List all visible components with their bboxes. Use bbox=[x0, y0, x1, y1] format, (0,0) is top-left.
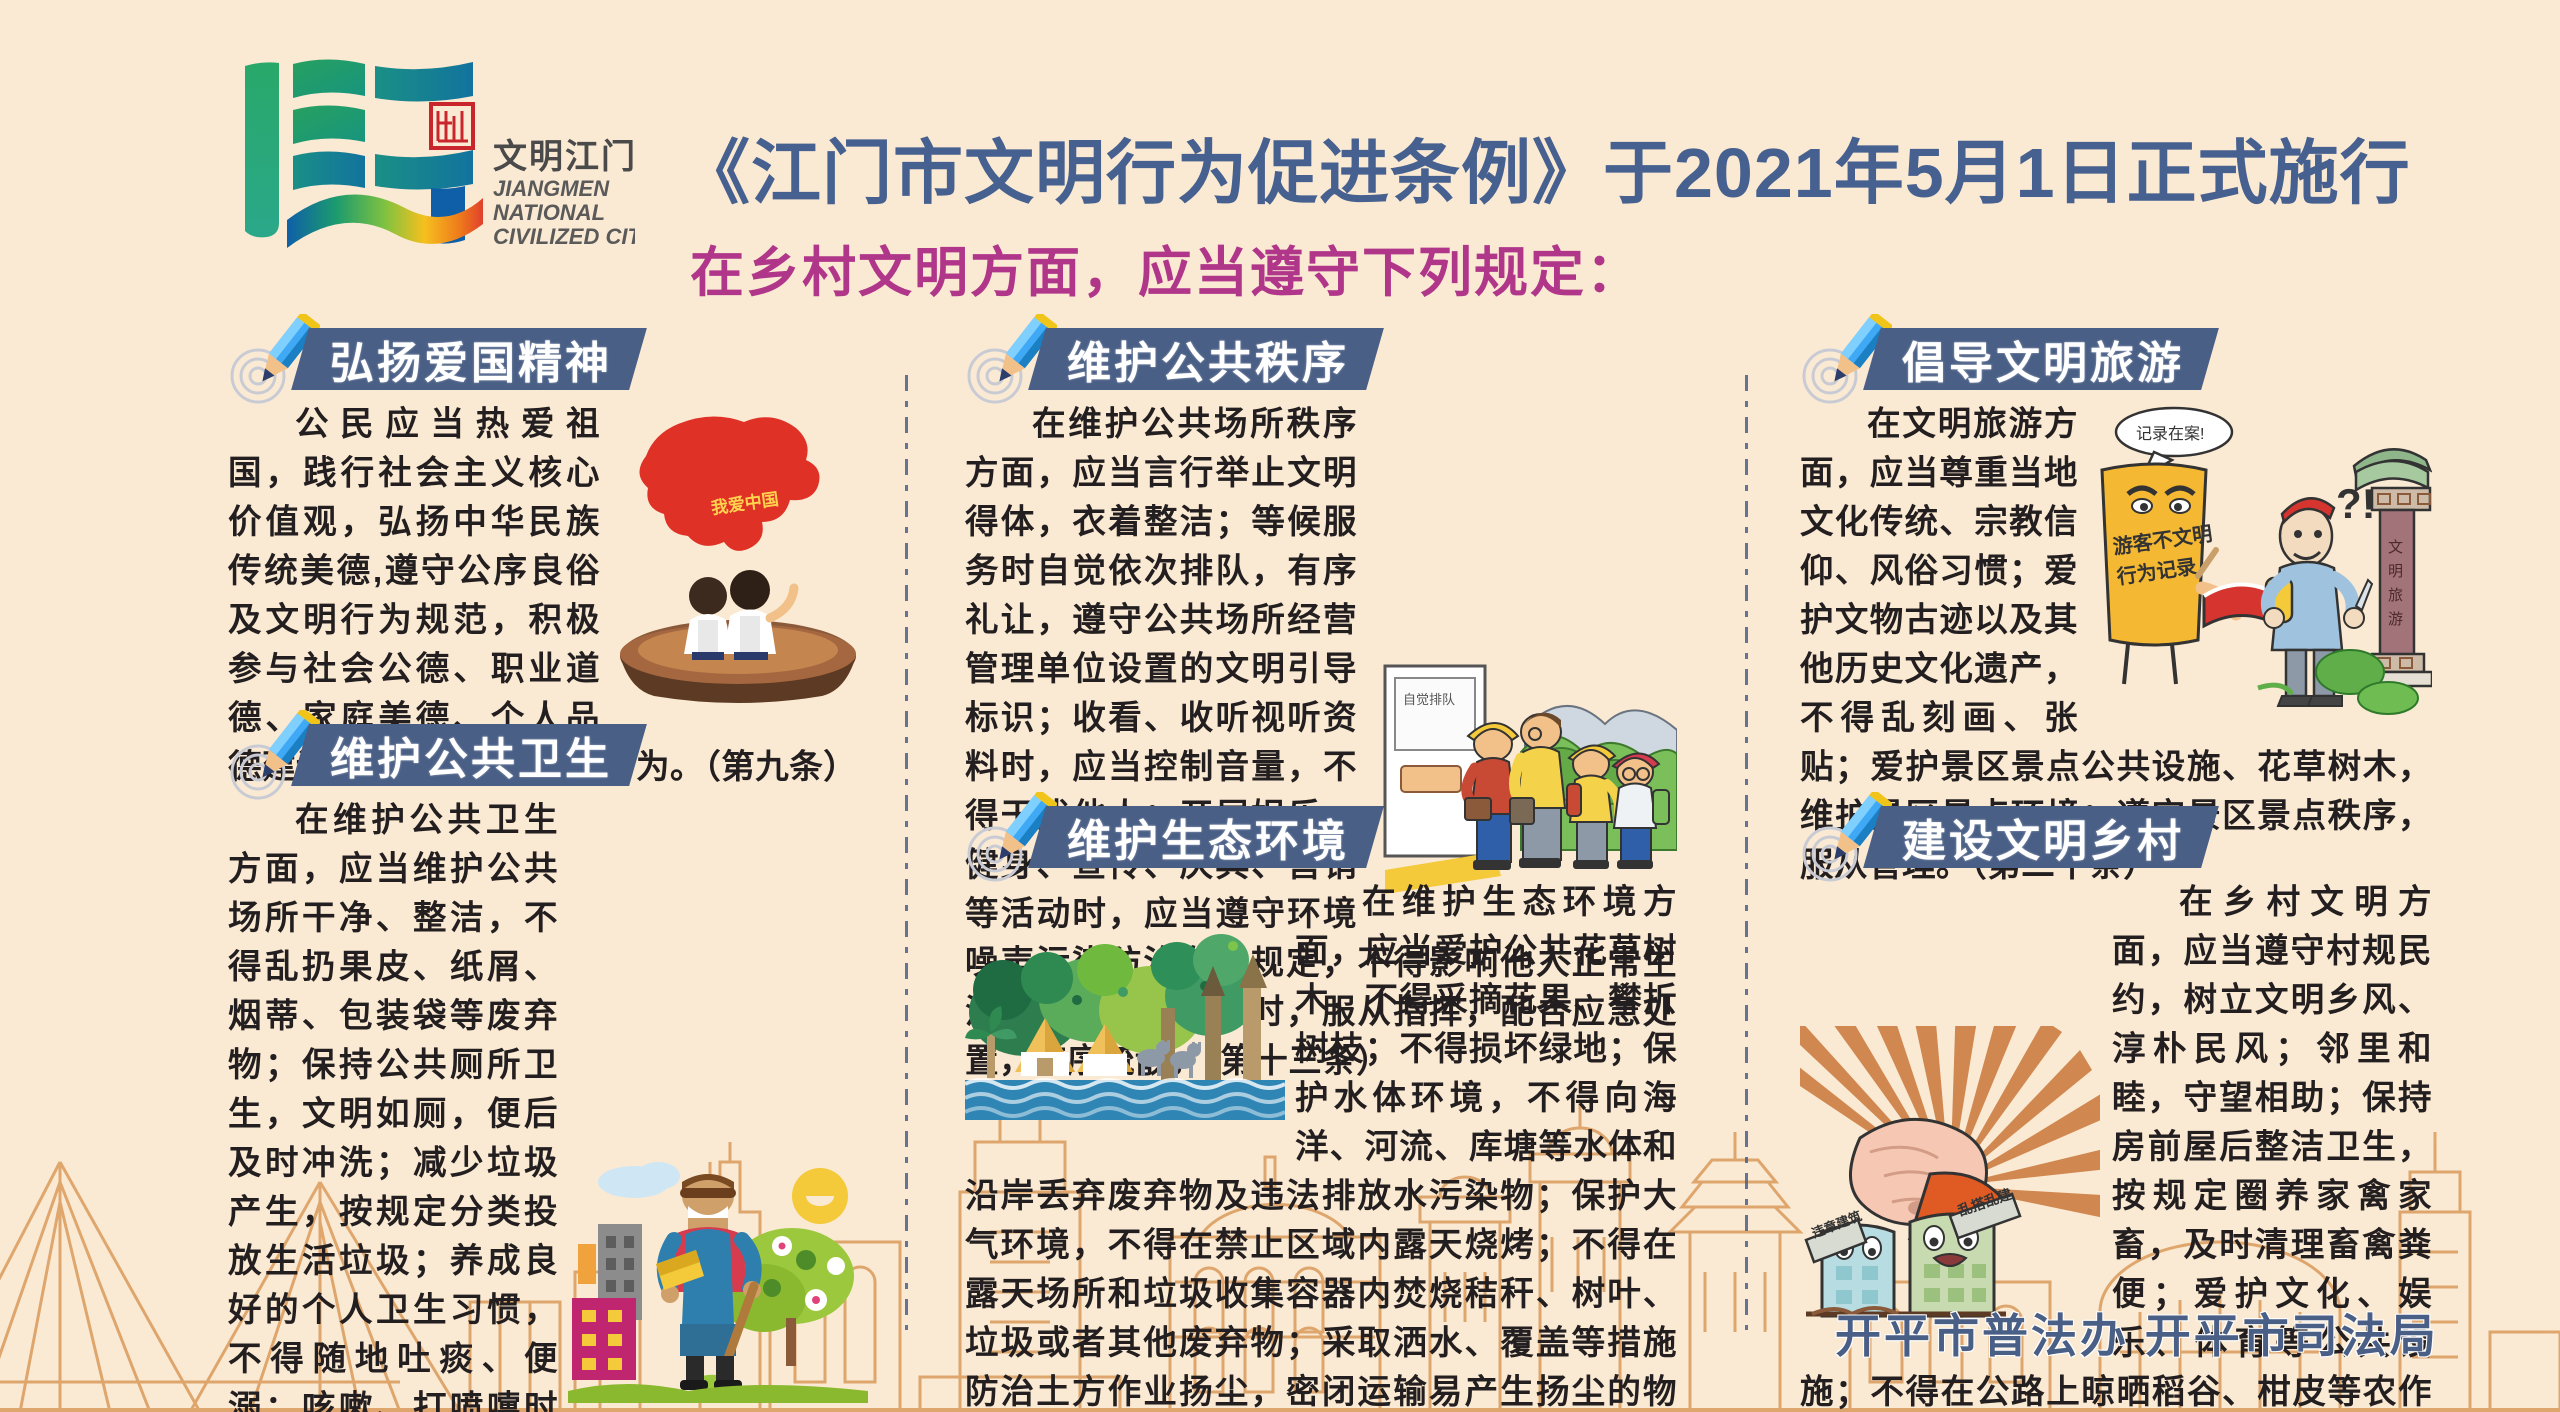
section-title-public-hygiene: 维护公共卫生 bbox=[330, 723, 612, 787]
page-subtitle: 在乡村文明方面，应当遵守下列规定： bbox=[690, 238, 2090, 308]
section-title-ecology: 维护生态环境 bbox=[1067, 805, 1349, 869]
logo-name-en-3: CIVILIZED CITY bbox=[493, 224, 635, 249]
poster-canvas: 文明江门 JIANGMEN NATIONAL CIVILIZED CITY 《江… bbox=[0, 0, 2560, 1412]
section-body-public-hygiene: 在维护公共卫生方面，应当维护公共场所干净、整洁，不得乱扔果皮、纸屑、烟蒂、包装袋… bbox=[228, 796, 868, 1412]
section-header-patriotism: 弘扬爱国精神 bbox=[228, 322, 868, 400]
column-divider-right bbox=[1745, 375, 1748, 1330]
section-ecology: 维护生态环境 bbox=[965, 800, 1677, 1412]
section-header-public-hygiene: 维护公共卫生 bbox=[228, 718, 868, 796]
logo-name-en-1: JIANGMEN bbox=[493, 176, 610, 201]
section-banner-public-order: 维护公共秩序 bbox=[1028, 328, 1384, 390]
section-header-public-order: 维护公共秩序 bbox=[965, 322, 1677, 400]
section-banner-public-hygiene: 维护公共卫生 bbox=[291, 724, 647, 786]
logo-name-cn: 文明江门 bbox=[493, 138, 635, 176]
column-divider-left bbox=[905, 375, 908, 1330]
section-header-civilized-village: 建设文明乡村 bbox=[1800, 800, 2432, 878]
logo-name-en-2: NATIONAL bbox=[493, 200, 605, 225]
red-seal-icon bbox=[431, 104, 473, 148]
section-public-hygiene: 维护公共卫生 bbox=[228, 718, 868, 1412]
section-banner-civilized-tourism: 倡导文明旅游 bbox=[1863, 328, 2219, 390]
section-title-civilized-tourism: 倡导文明旅游 bbox=[1902, 327, 2184, 391]
section-title-patriotism: 弘扬爱国精神 bbox=[330, 327, 612, 391]
jiangmen-civilized-city-logo: 文明江门 JIANGMEN NATIONAL CIVILIZED CITY bbox=[235, 48, 635, 253]
section-banner-civilized-village: 建设文明乡村 bbox=[1863, 806, 2219, 868]
section-banner-patriotism: 弘扬爱国精神 bbox=[291, 328, 647, 390]
section-body-ecology: 在维护生态环境方面，应当爱护公共花草树木，不得采摘花果、攀折树枝；不得损坏绿地；… bbox=[965, 878, 1677, 1412]
footer-organizations: 开平市普法办 开平市司法局 bbox=[1835, 1300, 2439, 1366]
section-title-civilized-village: 建设文明乡村 bbox=[1902, 805, 2184, 869]
page-title: 《江门市文明行为促进条例》于2021年5月1日正式施行 bbox=[680, 128, 2380, 218]
section-title-public-order: 维护公共秩序 bbox=[1067, 327, 1349, 391]
section-header-civilized-tourism: 倡导文明旅游 bbox=[1800, 322, 2432, 400]
section-header-ecology: 维护生态环境 bbox=[965, 800, 1677, 878]
section-banner-ecology: 维护生态环境 bbox=[1028, 806, 1384, 868]
